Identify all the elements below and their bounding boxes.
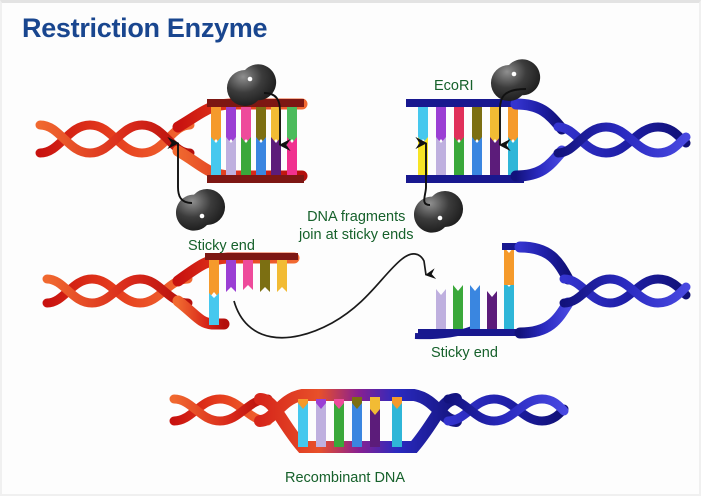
top-left-dna-molecule — [40, 64, 304, 230]
ecori-label: EcoRI — [434, 77, 474, 95]
blue-helix-coil-right-frag — [564, 279, 686, 303]
dna-backbone-bottom — [414, 175, 524, 183]
base-pair-group-top — [418, 107, 518, 145]
recombinant-base-pairs — [298, 397, 402, 447]
restriction-enzyme-icon — [491, 59, 540, 101]
restriction-enzyme-icon — [176, 189, 225, 231]
join-sticky-ends-label: DNA fragments join at sticky ends — [299, 208, 413, 244]
sticky-end-label-left: Sticky end — [188, 237, 255, 255]
blue-helix-coil-right — [558, 127, 686, 153]
recombinant-dna-label: Recombinant DNA — [285, 469, 405, 487]
sticky-end-label-right: Sticky end — [431, 344, 498, 362]
blue-helix-coil-recomb — [448, 399, 564, 421]
base-pair-group-top — [211, 107, 297, 145]
diagram-canvas: Restriction Enzyme — [0, 0, 701, 496]
join-label-line2: join at sticky ends — [299, 226, 413, 244]
dna-backbone-bottom — [207, 175, 304, 183]
red-helix-coil-left — [40, 125, 190, 153]
mid-right-fragment — [415, 243, 686, 336]
join-label-line1: DNA fragments — [299, 208, 413, 226]
restriction-enzyme-illustration — [2, 3, 701, 499]
sticky-end-bases-right — [436, 247, 514, 329]
restriction-enzyme-icon — [414, 191, 463, 233]
sticky-end-bases-left — [209, 260, 287, 325]
recombinant-dna-molecule — [174, 395, 564, 447]
base-pair-group-bottom — [211, 137, 297, 175]
mid-left-fragment — [47, 253, 298, 325]
red-helix-coil-left-frag — [47, 279, 188, 303]
base-pair-group-bottom — [418, 137, 518, 175]
red-helix-coil-recomb — [174, 399, 268, 421]
